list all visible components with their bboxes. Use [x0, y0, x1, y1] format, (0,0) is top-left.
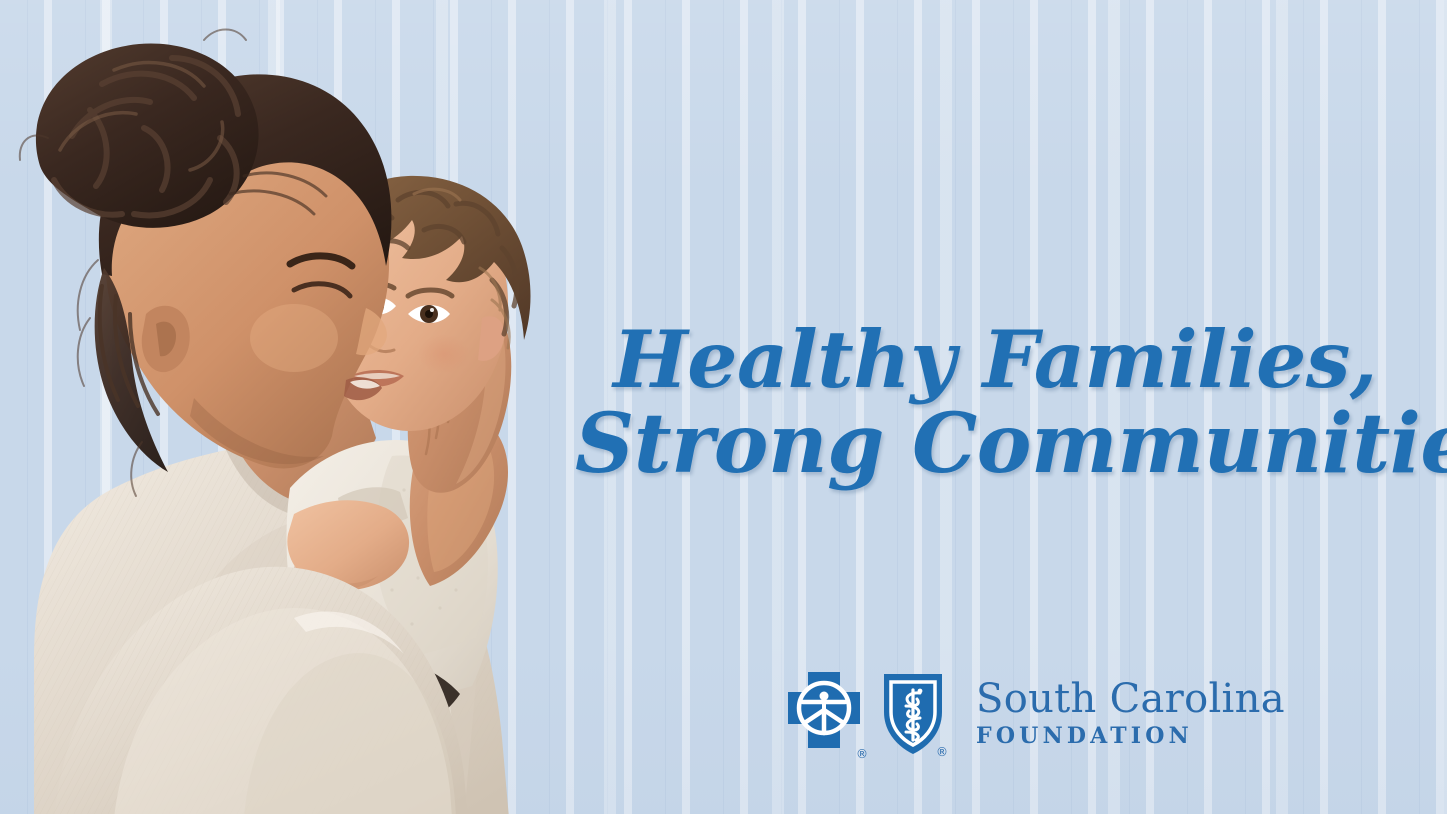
logo-wordmark: South Carolina FOUNDATION	[976, 677, 1285, 753]
headline-line-2: Strong Communities	[575, 402, 1415, 486]
mother-and-baby-photo	[0, 18, 644, 814]
svg-text:®: ®	[936, 745, 948, 759]
promotional-banner: Healthy Families, Strong Communities ®	[0, 0, 1447, 814]
page-title: Healthy Families, Strong Communities	[575, 318, 1415, 486]
headline-line-1: Healthy Families,	[575, 318, 1415, 402]
svg-text:®: ®	[856, 747, 868, 761]
logo-subtitle: FOUNDATION	[976, 723, 1285, 749]
bcbs-sc-foundation-logo[interactable]: ® ® South Carolin	[780, 665, 1285, 765]
blue-cross-icon: ®	[780, 666, 872, 764]
logo-name: South Carolina	[976, 677, 1285, 721]
blue-shield-icon: ®	[876, 666, 962, 764]
